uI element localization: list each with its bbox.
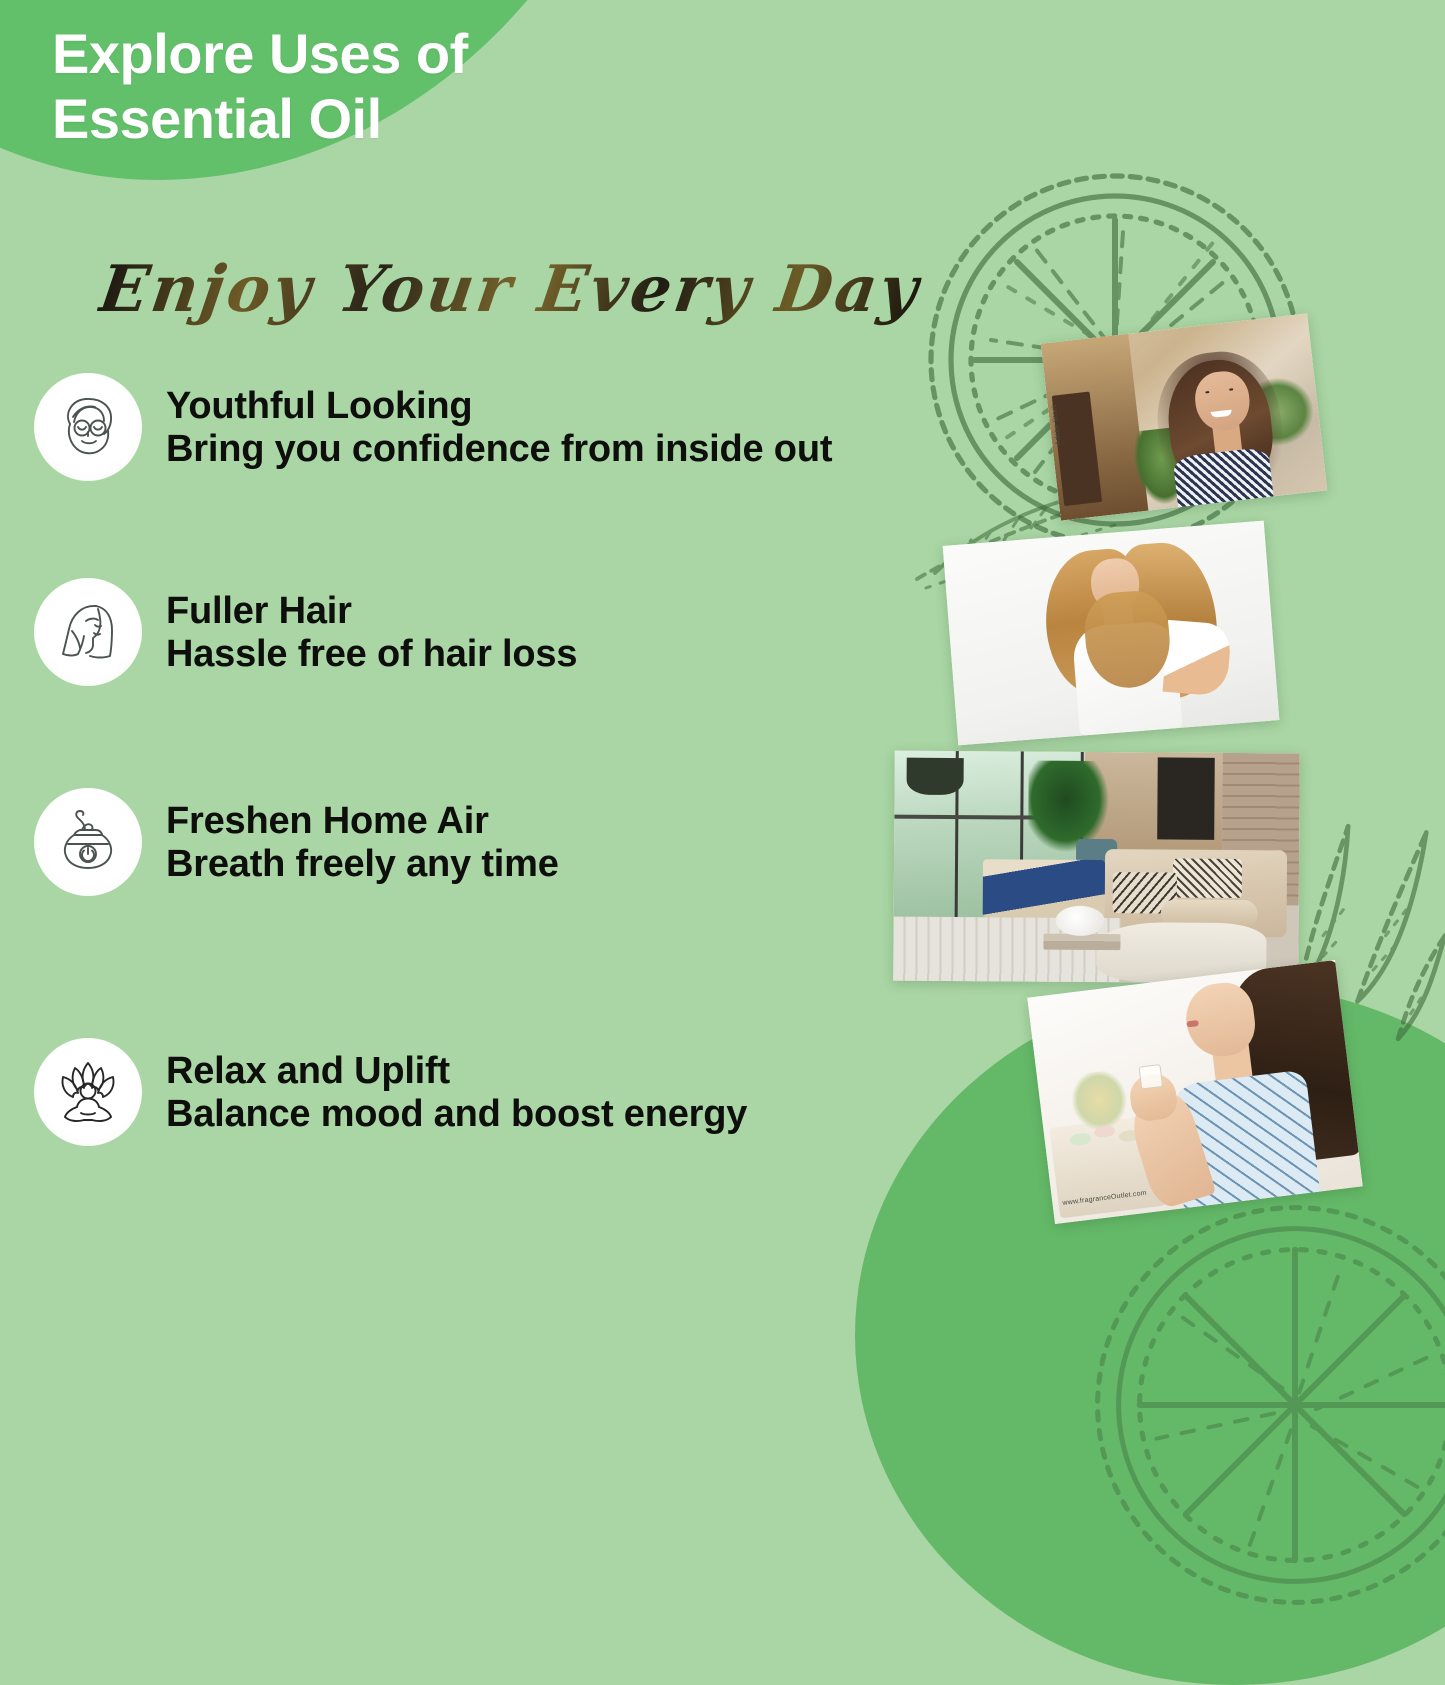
header: Explore Uses of Essential Oil	[52, 22, 468, 152]
infographic-canvas: Explore Uses of Essential Oil Enjoy Your…	[0, 0, 1445, 1445]
feature-subtitle: Bring you confidence from inside out	[166, 428, 832, 471]
long-hair-profile-icon	[34, 578, 142, 686]
photo-image	[1041, 313, 1327, 520]
feature-title: Fuller Hair	[166, 590, 577, 633]
feature-text: Fuller Hair Hassle free of hair loss	[166, 588, 577, 676]
feature-subtitle: Balance mood and boost energy	[166, 1093, 747, 1136]
photo-image	[893, 751, 1300, 984]
feature-title: Freshen Home Air	[166, 800, 559, 843]
photo-boho-living-room-diffuser[interactable]	[893, 751, 1300, 984]
feature-item-freshen-home-air: Freshen Home Air Breath freely any time	[34, 788, 559, 896]
feature-item-fuller-hair: Fuller Hair Hassle free of hair loss	[34, 578, 577, 686]
feature-subtitle: Breath freely any time	[166, 843, 559, 886]
oil-diffuser-icon	[34, 788, 142, 896]
photo-woman-applying-perfume[interactable]: www.fragranceOutlet.com	[1027, 960, 1362, 1224]
photo-image	[943, 521, 1280, 746]
tagline: Enjoy Your Every Day	[95, 252, 926, 327]
feature-text: Relax and Uplift Balance mood and boost …	[166, 1048, 747, 1136]
feature-item-youthful-looking: Youthful Looking Bring you confidence fr…	[34, 373, 832, 481]
photo-image	[1027, 960, 1362, 1224]
feature-title: Relax and Uplift	[166, 1050, 747, 1093]
page-title: Explore Uses of Essential Oil	[52, 22, 468, 152]
feature-title: Youthful Looking	[166, 385, 832, 428]
lotus-meditation-icon	[34, 1038, 142, 1146]
feature-item-relax-and-uplift: Relax and Uplift Balance mood and boost …	[34, 1038, 747, 1146]
photo-woman-smiling-cafe[interactable]: Adobe Stock	[1041, 313, 1327, 520]
photo-blonde-wavy-hair[interactable]	[943, 521, 1280, 746]
facial-mask-icon	[34, 373, 142, 481]
feature-text: Freshen Home Air Breath freely any time	[166, 798, 559, 886]
feature-text: Youthful Looking Bring you confidence fr…	[166, 383, 832, 471]
feature-subtitle: Hassle free of hair loss	[166, 633, 577, 676]
